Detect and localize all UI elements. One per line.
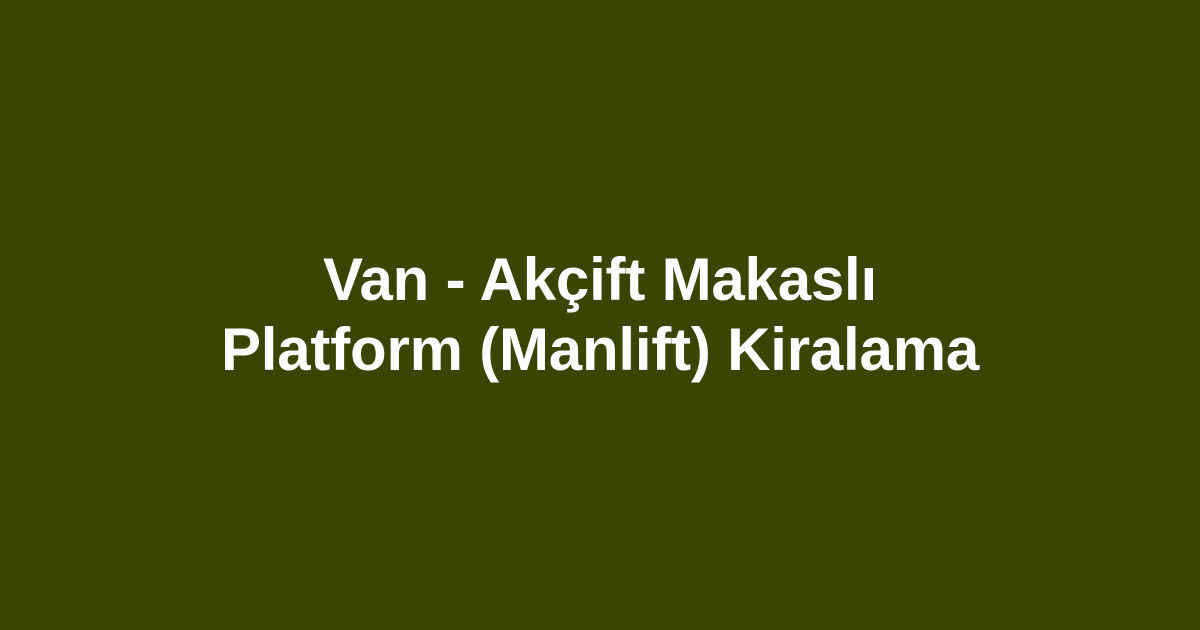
share-card-content: Van - Akçift Makaslı Platform (Manlift) …: [0, 245, 1200, 384]
page-title: Van - Akçift Makaslı Platform (Manlift) …: [210, 245, 990, 384]
share-card: Van - Akçift Makaslı Platform (Manlift) …: [0, 0, 1200, 630]
